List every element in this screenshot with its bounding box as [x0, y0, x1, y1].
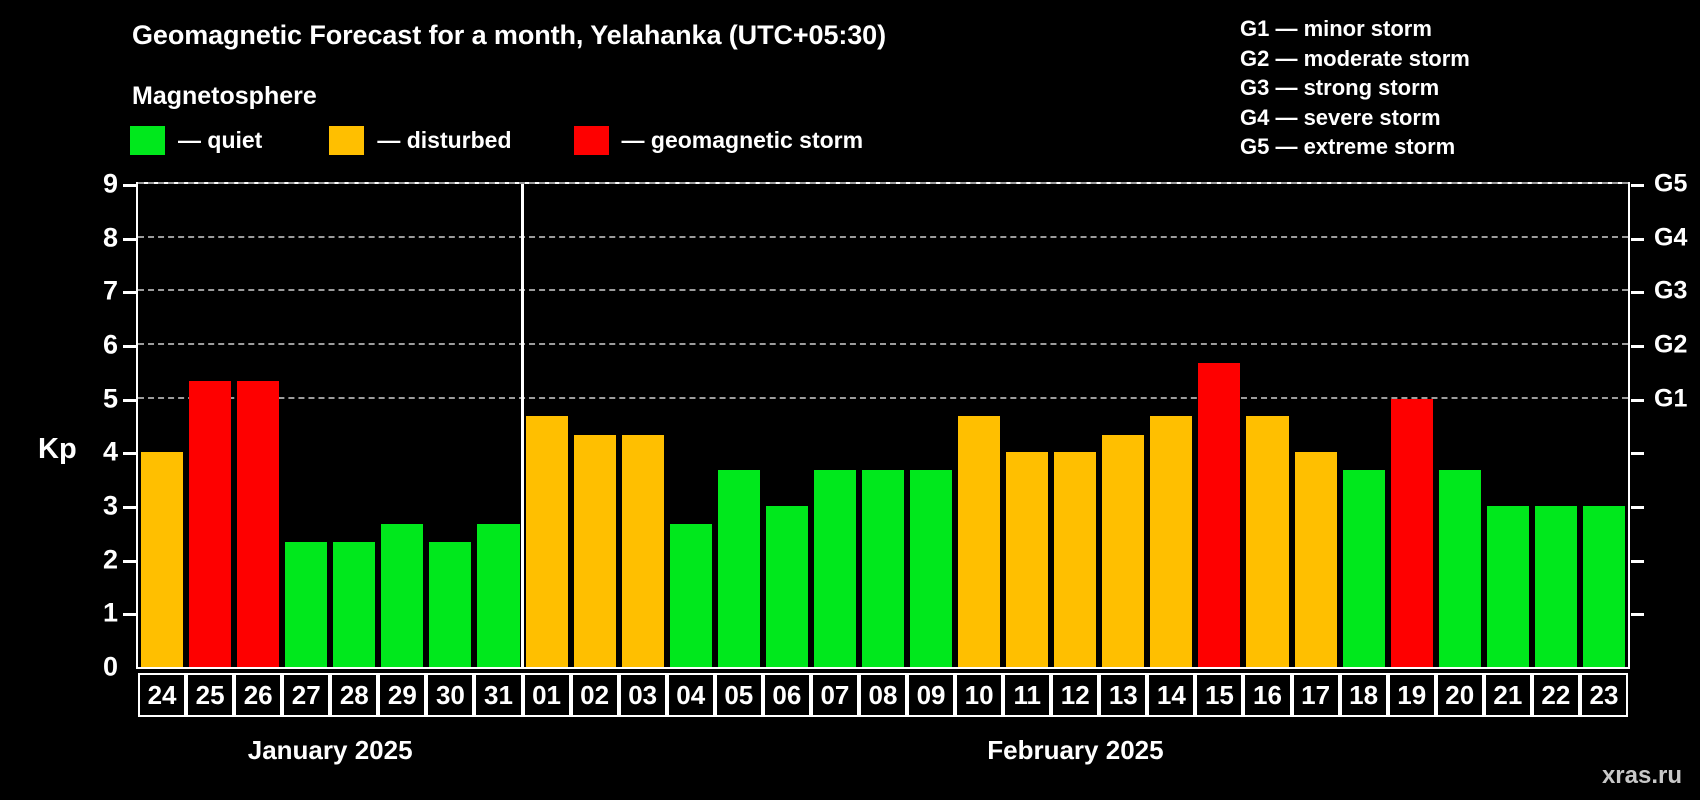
storm-scale-line: G3 — strong storm [1240, 73, 1470, 103]
bar-17[interactable] [1295, 452, 1337, 667]
g-tick-mark [1631, 291, 1644, 294]
bar-22[interactable] [1535, 506, 1577, 667]
y-tick-mark [123, 238, 136, 241]
y-tick-label-0: 0 [58, 652, 118, 683]
g-tick-mark [1631, 506, 1644, 509]
bar-29[interactable] [381, 524, 423, 667]
legend-item-storm: — geomagnetic storm [574, 126, 864, 155]
legend-item-quiet: — quiet [130, 126, 262, 155]
day-label-08[interactable]: 08 [859, 673, 907, 717]
day-label-09[interactable]: 09 [907, 673, 955, 717]
y-tick-mark [123, 452, 136, 455]
day-label-01[interactable]: 01 [523, 673, 571, 717]
bar-04[interactable] [670, 524, 712, 667]
y-tick-mark [123, 184, 136, 187]
day-label-03[interactable]: 03 [619, 673, 667, 717]
month-caption: January 2025 [248, 735, 413, 766]
bar-19[interactable] [1391, 399, 1433, 667]
bar-24[interactable] [141, 452, 183, 667]
legend-swatch-quiet [130, 126, 165, 155]
y-tick-label-5: 5 [58, 383, 118, 414]
day-label-21[interactable]: 21 [1484, 673, 1532, 717]
legend-item-disturbed: — disturbed [329, 126, 511, 155]
day-label-02[interactable]: 02 [571, 673, 619, 717]
day-label-06[interactable]: 06 [763, 673, 811, 717]
g-scale-label-G1: G1 [1654, 384, 1687, 413]
y-tick-label-8: 8 [58, 222, 118, 253]
bar-16[interactable] [1246, 416, 1288, 667]
g-tick-mark [1631, 452, 1644, 455]
y-tick-label-2: 2 [58, 544, 118, 575]
day-label-19[interactable]: 19 [1388, 673, 1436, 717]
bar-10[interactable] [958, 416, 1000, 667]
day-label-20[interactable]: 20 [1436, 673, 1484, 717]
y-tick-label-1: 1 [58, 598, 118, 629]
geomagnetic-forecast-chart: Geomagnetic Forecast for a month, Yelaha… [0, 0, 1700, 800]
day-label-10[interactable]: 10 [955, 673, 1003, 717]
day-label-07[interactable]: 07 [811, 673, 859, 717]
bar-07[interactable] [814, 470, 856, 667]
day-label-17[interactable]: 17 [1292, 673, 1340, 717]
bar-09[interactable] [910, 470, 952, 667]
day-label-28[interactable]: 28 [330, 673, 378, 717]
bar-21[interactable] [1487, 506, 1529, 667]
g-scale-label-G4: G4 [1654, 223, 1687, 252]
bar-28[interactable] [333, 542, 375, 667]
g-tick-mark [1631, 184, 1644, 187]
legend-label-quiet: — quiet [178, 127, 262, 154]
bar-01[interactable] [526, 416, 568, 667]
day-label-22[interactable]: 22 [1532, 673, 1580, 717]
day-label-30[interactable]: 30 [426, 673, 474, 717]
day-label-29[interactable]: 29 [378, 673, 426, 717]
y-tick-mark [123, 613, 136, 616]
bar-27[interactable] [285, 542, 327, 667]
g-tick-mark [1631, 560, 1644, 563]
y-tick-mark [123, 291, 136, 294]
y-tick-label-9: 9 [58, 169, 118, 200]
day-label-26[interactable]: 26 [234, 673, 282, 717]
watermark: xras.ru [1602, 762, 1682, 790]
g-tick-mark [1631, 345, 1644, 348]
month-caption: February 2025 [987, 735, 1163, 766]
legend-swatch-storm [574, 126, 609, 155]
day-label-16[interactable]: 16 [1243, 673, 1291, 717]
y-tick-label-7: 7 [58, 276, 118, 307]
bar-31[interactable] [477, 524, 519, 667]
bar-18[interactable] [1343, 470, 1385, 667]
bar-25[interactable] [189, 381, 231, 667]
g-tick-mark [1631, 399, 1644, 402]
day-label-05[interactable]: 05 [715, 673, 763, 717]
g-tick-mark [1631, 613, 1644, 616]
day-label-12[interactable]: 12 [1051, 673, 1099, 717]
bar-14[interactable] [1150, 416, 1192, 667]
legend-label-storm: — geomagnetic storm [622, 127, 864, 154]
storm-scale-line: G1 — minor storm [1240, 14, 1470, 44]
legend-label-disturbed: — disturbed [377, 127, 511, 154]
day-label-23[interactable]: 23 [1580, 673, 1628, 717]
y-tick-mark [123, 506, 136, 509]
storm-scale-line: G5 — extreme storm [1240, 132, 1470, 162]
bar-08[interactable] [862, 470, 904, 667]
day-label-24[interactable]: 24 [138, 673, 186, 717]
bar-03[interactable] [622, 435, 664, 667]
month-divider [521, 184, 524, 667]
y-tick-mark [123, 345, 136, 348]
bar-13[interactable] [1102, 435, 1144, 667]
g-scale-label-G3: G3 [1654, 277, 1687, 306]
day-label-13[interactable]: 13 [1099, 673, 1147, 717]
y-tick-mark [123, 560, 136, 563]
g-tick-mark [1631, 238, 1644, 241]
g-scale-label-G2: G2 [1654, 331, 1687, 360]
bar-30[interactable] [429, 542, 471, 667]
day-label-18[interactable]: 18 [1340, 673, 1388, 717]
g-scale-label-G5: G5 [1654, 170, 1687, 199]
legend-swatch-disturbed [329, 126, 364, 155]
bar-26[interactable] [237, 381, 279, 667]
day-label-31[interactable]: 31 [474, 673, 522, 717]
bar-23[interactable] [1583, 506, 1625, 667]
day-label-25[interactable]: 25 [186, 673, 234, 717]
bar-20[interactable] [1439, 470, 1481, 667]
y-tick-label-3: 3 [58, 491, 118, 522]
y-tick-label-4: 4 [58, 437, 118, 468]
bar-02[interactable] [574, 435, 616, 667]
magnetosphere-legend: — quiet — disturbed — geomagnetic storm [130, 126, 863, 155]
magnetosphere-legend-heading: Magnetosphere [132, 82, 317, 111]
plot-inner [138, 184, 1628, 667]
storm-scale-key: G1 — minor storm G2 — moderate storm G3 … [1240, 14, 1470, 162]
day-label-15[interactable]: 15 [1195, 673, 1243, 717]
y-tick-label-6: 6 [58, 330, 118, 361]
bar-11[interactable] [1006, 452, 1048, 667]
plot-area [136, 182, 1630, 669]
storm-scale-line: G2 — moderate storm [1240, 44, 1470, 74]
page-title: Geomagnetic Forecast for a month, Yelaha… [132, 20, 886, 51]
day-label-11[interactable]: 11 [1003, 673, 1051, 717]
storm-scale-line: G4 — severe storm [1240, 103, 1470, 133]
bar-15[interactable] [1198, 363, 1240, 667]
bar-06[interactable] [766, 506, 808, 667]
bar-series [138, 184, 1628, 667]
day-label-14[interactable]: 14 [1147, 673, 1195, 717]
y-tick-mark [123, 399, 136, 402]
day-label-27[interactable]: 27 [282, 673, 330, 717]
bar-05[interactable] [718, 470, 760, 667]
bar-12[interactable] [1054, 452, 1096, 667]
day-label-04[interactable]: 04 [667, 673, 715, 717]
